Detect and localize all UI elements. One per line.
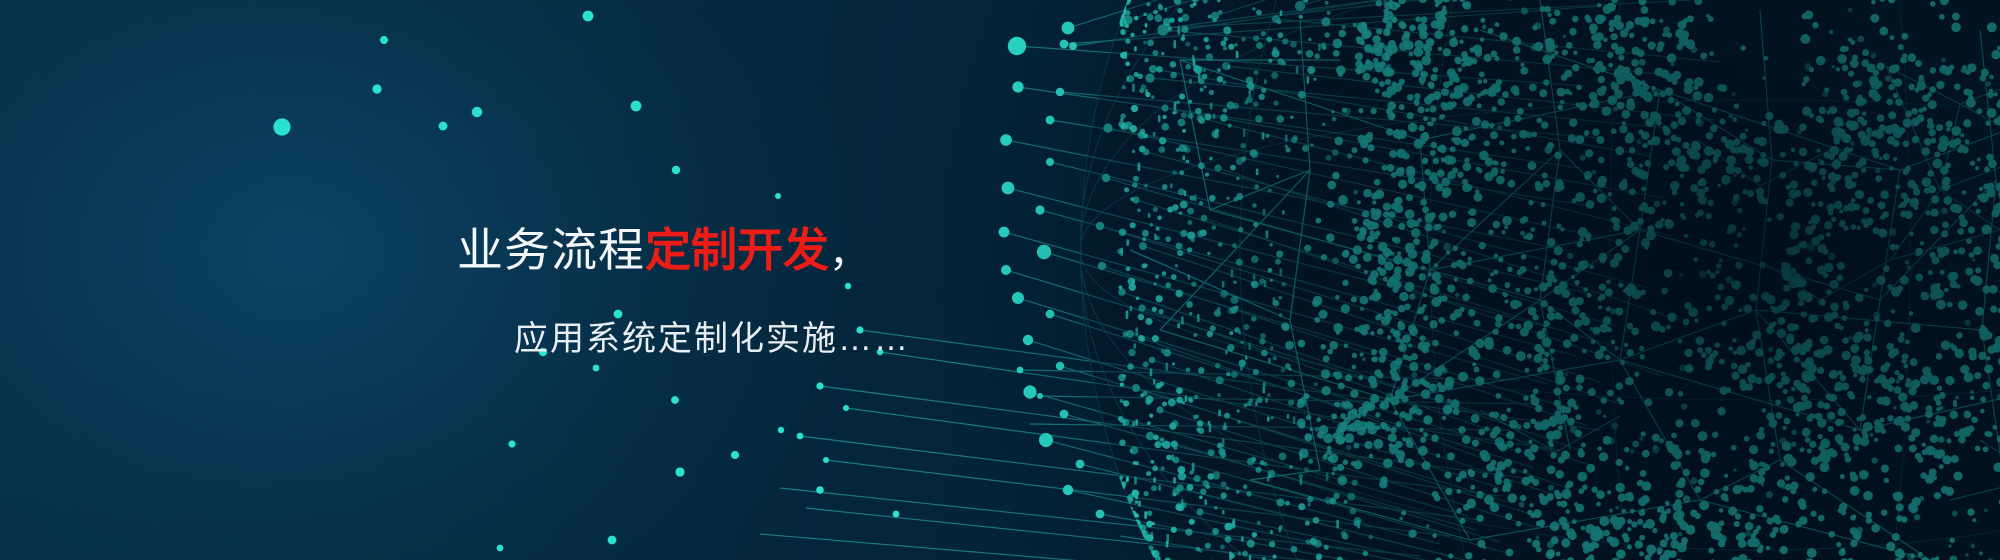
background-right-vignette — [0, 0, 2000, 560]
hero-banner: 业务流程定制开发， 应用系统定制化实施…… — [0, 0, 2000, 560]
